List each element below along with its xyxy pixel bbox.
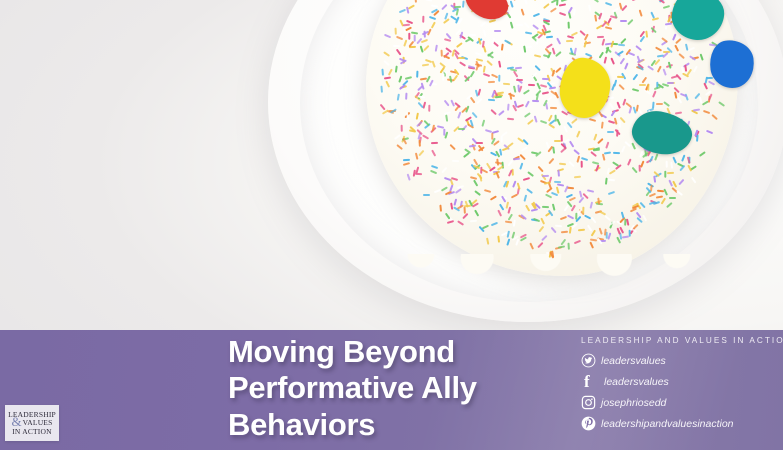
sprinkle xyxy=(484,189,491,193)
sprinkle xyxy=(590,201,594,208)
sprinkle xyxy=(533,13,540,18)
sprinkle xyxy=(428,105,431,112)
sprinkle xyxy=(618,84,625,91)
sprinkle xyxy=(441,186,448,192)
sprinkle xyxy=(503,83,510,86)
sprinkle xyxy=(652,17,659,21)
sprinkle xyxy=(621,146,626,153)
sprinkle xyxy=(542,205,549,208)
sprinkle xyxy=(533,0,537,1)
sprinkle xyxy=(384,34,391,39)
sprinkle xyxy=(403,162,410,166)
social-block: LEADERSHIP AND VALUES IN ACTION leadersv… xyxy=(581,336,783,436)
sprinkle xyxy=(496,159,499,166)
sprinkle xyxy=(675,111,682,114)
sprinkle xyxy=(455,9,459,16)
sprinkle xyxy=(397,94,401,101)
sprinkle xyxy=(506,238,510,245)
sprinkle xyxy=(381,109,388,115)
sprinkle xyxy=(666,202,673,208)
sprinkle xyxy=(516,24,523,27)
sprinkle xyxy=(671,75,678,79)
sprinkle xyxy=(469,97,475,104)
sprinkle xyxy=(458,128,465,130)
sprinkle xyxy=(457,220,464,226)
sprinkle xyxy=(423,101,427,108)
sprinkle xyxy=(500,136,503,143)
sprinkle xyxy=(519,163,524,170)
sprinkle xyxy=(676,191,683,197)
sprinkle xyxy=(510,21,514,28)
sprinkle xyxy=(605,27,612,31)
sprinkle xyxy=(444,212,450,219)
sprinkle xyxy=(513,71,519,78)
sprinkle xyxy=(516,182,520,189)
sprinkle xyxy=(443,54,450,59)
sprinkle xyxy=(599,227,604,234)
sprinkle xyxy=(453,198,457,205)
sprinkle xyxy=(645,31,648,38)
sprinkle xyxy=(555,225,562,228)
sprinkle xyxy=(504,39,511,45)
sprinkle xyxy=(619,58,625,65)
sprinkle xyxy=(599,51,605,58)
sprinkle xyxy=(396,35,403,40)
sprinkle xyxy=(635,45,642,51)
sprinkle xyxy=(462,0,465,7)
sprinkle xyxy=(620,20,627,22)
sprinkle xyxy=(551,227,557,234)
sprinkle xyxy=(458,56,465,58)
sprinkle xyxy=(560,135,563,142)
sprinkle xyxy=(657,190,664,193)
sprinkle xyxy=(394,134,401,140)
sprinkle xyxy=(699,152,706,158)
sprinkle xyxy=(663,101,670,107)
sprinkle xyxy=(583,41,587,48)
sprinkle xyxy=(667,82,674,85)
sprinkle xyxy=(396,144,403,150)
sprinkle xyxy=(395,65,398,72)
sprinkle xyxy=(584,214,591,219)
sprinkle xyxy=(441,4,448,11)
sprinkle xyxy=(587,5,591,12)
sprinkle xyxy=(568,161,575,168)
sprinkle xyxy=(688,47,695,52)
sprinkle xyxy=(574,240,581,245)
sprinkle xyxy=(571,31,578,36)
sprinkle xyxy=(653,201,660,205)
sprinkle xyxy=(480,21,487,27)
sprinkle xyxy=(576,131,581,138)
sprinkle xyxy=(665,160,668,167)
sprinkle xyxy=(415,112,419,119)
sprinkle xyxy=(647,84,650,91)
sprinkle xyxy=(552,204,556,211)
sprinkle xyxy=(631,143,636,150)
sprinkle xyxy=(661,198,667,205)
sprinkle xyxy=(544,48,550,55)
sprinkle xyxy=(525,205,531,212)
sprinkle xyxy=(603,151,610,154)
sprinkle xyxy=(589,242,594,249)
sprinkle xyxy=(593,133,598,140)
sprinkle xyxy=(533,115,537,122)
sprinkle xyxy=(525,45,532,48)
sprinkle xyxy=(449,75,453,82)
sprinkle xyxy=(605,2,612,7)
sprinkle xyxy=(399,75,404,82)
sprinkle xyxy=(698,96,702,103)
sprinkle xyxy=(552,147,555,154)
sprinkle xyxy=(483,30,487,37)
sprinkle xyxy=(501,132,508,138)
sprinkle xyxy=(523,90,530,96)
sprinkle xyxy=(494,30,501,32)
sprinkle xyxy=(506,181,510,188)
twitter-handle: leadersvalues xyxy=(601,355,666,367)
sprinkle xyxy=(517,137,524,143)
sprinkle xyxy=(605,142,610,149)
sprinkle xyxy=(679,179,686,186)
sprinkle xyxy=(545,194,552,199)
sprinkle xyxy=(431,150,436,157)
sprinkle xyxy=(385,80,390,87)
sprinkle xyxy=(449,144,456,151)
sprinkle xyxy=(401,124,404,131)
sprinkle xyxy=(559,12,566,17)
headline: Moving Beyond Performative Ally Behavior… xyxy=(228,334,558,443)
sprinkle xyxy=(582,207,585,214)
sprinkle xyxy=(380,85,383,92)
sprinkle xyxy=(567,243,570,250)
sprinkle xyxy=(456,42,463,48)
sprinkle xyxy=(512,219,515,226)
sprinkle xyxy=(555,51,562,57)
sprinkle xyxy=(510,193,517,198)
logo-line-2: VALUES xyxy=(23,419,53,427)
sprinkle xyxy=(667,172,674,175)
sprinkle xyxy=(513,157,520,160)
sprinkle xyxy=(498,75,501,82)
sprinkle xyxy=(482,72,489,77)
sprinkle xyxy=(464,204,471,207)
sprinkle xyxy=(506,230,510,237)
sprinkle xyxy=(597,197,600,204)
sprinkle xyxy=(543,3,550,9)
sprinkle xyxy=(581,160,584,167)
sprinkle xyxy=(707,81,714,86)
sprinkle xyxy=(463,152,470,158)
sprinkle xyxy=(616,101,621,108)
instagram-handle: josephriosedd xyxy=(601,397,666,409)
sprinkle xyxy=(567,215,574,220)
sprinkle xyxy=(593,149,600,152)
sprinkle xyxy=(505,220,512,223)
sprinkle xyxy=(540,120,547,125)
sprinkle xyxy=(513,0,517,1)
sprinkle xyxy=(445,132,449,139)
sprinkle xyxy=(558,163,565,166)
sprinkle xyxy=(452,160,459,163)
sprinkle xyxy=(608,191,615,196)
sprinkle xyxy=(590,151,597,157)
sprinkle xyxy=(560,0,567,2)
instagram-icon xyxy=(581,395,601,410)
headline-line-2: Performative Ally xyxy=(228,370,558,406)
sprinkle xyxy=(403,159,410,162)
social-row-twitter[interactable]: leadersvalues xyxy=(581,352,783,369)
sprinkle xyxy=(554,115,557,122)
pinterest-handle: leadershipandvaluesinaction xyxy=(601,418,734,430)
sprinkle xyxy=(383,51,390,57)
sprinkle xyxy=(488,98,495,101)
brand-logo: LEADERSHIP & VALUES IN ACTION xyxy=(5,405,59,441)
sprinkle xyxy=(455,188,462,194)
sprinkle xyxy=(555,67,562,73)
sprinkle xyxy=(669,197,676,199)
sprinkle xyxy=(665,22,672,25)
social-row-pinterest[interactable]: leadershipandvaluesinaction xyxy=(581,415,783,432)
sprinkle xyxy=(640,161,645,168)
sprinkle xyxy=(425,0,432,2)
sprinkle xyxy=(677,97,683,104)
sprinkle xyxy=(482,120,486,127)
sprinkle xyxy=(431,60,436,67)
facebook-handle: leadersvalues xyxy=(604,376,669,388)
sprinkle xyxy=(556,119,561,126)
sprinkle xyxy=(489,20,496,24)
logo-line-3: IN ACTION xyxy=(12,428,52,436)
sprinkle xyxy=(425,59,432,64)
sprinkle xyxy=(541,92,548,96)
social-row-instagram[interactable]: josephriosedd xyxy=(581,394,783,411)
sprinkle xyxy=(439,204,442,211)
sprinkle xyxy=(556,186,560,193)
sprinkle xyxy=(497,236,500,243)
sprinkle xyxy=(383,60,390,66)
sprinkle xyxy=(462,213,469,220)
sprinkle xyxy=(550,7,557,13)
sprinkle xyxy=(681,154,686,161)
sprinkle xyxy=(524,195,528,202)
sprinkle xyxy=(532,100,539,103)
sprinkle xyxy=(577,229,584,232)
sprinkle xyxy=(523,177,530,181)
sprinkle xyxy=(517,104,524,109)
sprinkle xyxy=(401,26,406,33)
sprinkle xyxy=(512,85,516,92)
sprinkle xyxy=(627,18,634,25)
sprinkle xyxy=(572,8,576,15)
sprinkle xyxy=(607,179,614,182)
sprinkle xyxy=(613,152,620,155)
sprinkle xyxy=(507,143,514,149)
sprinkle xyxy=(472,203,479,209)
sprinkle xyxy=(474,210,480,217)
sprinkle xyxy=(564,185,569,192)
sprinkle xyxy=(381,69,384,76)
sprinkle xyxy=(601,122,604,129)
sprinkle xyxy=(621,5,628,12)
sprinkle xyxy=(654,154,659,161)
sprinkle xyxy=(488,80,495,83)
sprinkle xyxy=(687,165,692,172)
sprinkle xyxy=(523,113,530,119)
sprinkle xyxy=(416,71,419,78)
sprinkle xyxy=(470,220,477,223)
sprinkle xyxy=(423,15,426,22)
sprinkle xyxy=(607,131,614,133)
sprinkle xyxy=(459,61,466,67)
sprinkle xyxy=(559,3,566,7)
sprinkle xyxy=(622,235,629,238)
sprinkle xyxy=(526,188,533,194)
sprinkle xyxy=(655,47,662,52)
sprinkle xyxy=(512,181,517,188)
sprinkle xyxy=(718,101,725,107)
sprinkle xyxy=(469,33,476,36)
sprinkle xyxy=(408,4,415,10)
sprinkle xyxy=(507,104,510,111)
sprinkle xyxy=(566,40,573,43)
sprinkle xyxy=(560,147,567,153)
sprinkle xyxy=(604,215,611,221)
sprinkle xyxy=(527,119,534,125)
sprinkle xyxy=(477,88,481,95)
sprinkle xyxy=(703,110,710,115)
social-row-facebook[interactable]: f leadersvalues xyxy=(581,373,783,390)
sprinkle xyxy=(603,56,607,63)
sprinkle xyxy=(423,193,430,195)
promo-banner: LEADERSHIP & VALUES IN ACTION Moving Bey… xyxy=(0,0,783,450)
sprinkle xyxy=(687,68,693,75)
sprinkle xyxy=(524,101,529,108)
sprinkle xyxy=(399,9,406,14)
sprinkle xyxy=(691,177,697,184)
sprinkle xyxy=(598,211,605,216)
sprinkle xyxy=(610,57,615,64)
sprinkle xyxy=(486,60,493,66)
sprinkle xyxy=(445,115,448,122)
sprinkle xyxy=(496,210,501,217)
sprinkle xyxy=(475,52,482,56)
sprinkle xyxy=(563,125,568,132)
sprinkle xyxy=(538,242,545,249)
sprinkle xyxy=(405,93,408,100)
sprinkle xyxy=(441,167,447,174)
sprinkle xyxy=(556,38,561,45)
sprinkle xyxy=(446,220,453,224)
sprinkle xyxy=(627,159,632,166)
sprinkle xyxy=(567,21,570,28)
sprinkle xyxy=(711,114,718,120)
sprinkle xyxy=(529,242,534,249)
sprinkle xyxy=(474,190,481,196)
sprinkle xyxy=(534,54,541,58)
sprinkle xyxy=(559,216,566,221)
sprinkle xyxy=(473,180,479,187)
sprinkle xyxy=(476,173,482,180)
sprinkle xyxy=(619,121,622,128)
sprinkle xyxy=(592,0,599,3)
sprinkle xyxy=(507,117,514,120)
sprinkle xyxy=(569,140,575,147)
sprinkle xyxy=(482,66,486,73)
sprinkle xyxy=(639,84,646,86)
sprinkle xyxy=(490,109,497,116)
sprinkle xyxy=(421,134,428,140)
sprinkle xyxy=(495,96,502,99)
sprinkle xyxy=(625,102,632,108)
sprinkle xyxy=(424,45,431,52)
sprinkle xyxy=(652,91,657,98)
sprinkle xyxy=(670,161,673,168)
sprinkle xyxy=(617,76,624,79)
twitter-icon xyxy=(581,353,601,368)
sprinkle xyxy=(521,146,528,152)
sprinkle xyxy=(443,100,449,107)
sprinkle xyxy=(471,112,477,119)
sprinkle xyxy=(684,43,688,50)
facebook-icon: f xyxy=(581,373,604,390)
sprinkle xyxy=(673,45,678,52)
sprinkle xyxy=(638,10,642,17)
sprinkle xyxy=(509,0,513,7)
sprinkle xyxy=(383,77,390,80)
sprinkle xyxy=(428,16,435,21)
sprinkle xyxy=(534,65,541,72)
sprinkle xyxy=(541,235,548,242)
headline-line-1: Moving Beyond xyxy=(228,334,558,370)
sprinkle xyxy=(434,44,438,51)
sprinkle xyxy=(568,227,571,234)
sprinkle xyxy=(663,5,670,9)
sprinkle xyxy=(589,118,596,122)
sprinkle xyxy=(548,124,555,130)
pinterest-icon xyxy=(581,416,601,431)
sprinkle xyxy=(525,32,532,36)
sprinkle xyxy=(573,176,580,179)
sprinkle xyxy=(554,180,561,183)
sprinkle xyxy=(618,43,625,46)
sprinkle xyxy=(678,53,685,59)
sprinkle xyxy=(498,60,502,67)
sprinkle xyxy=(550,107,557,110)
sprinkle xyxy=(573,149,580,155)
sprinkle xyxy=(587,224,593,231)
sprinkle xyxy=(523,0,528,5)
sprinkle xyxy=(703,82,708,89)
sprinkle xyxy=(406,173,411,180)
sprinkle xyxy=(498,110,505,116)
sprinkle xyxy=(418,140,421,147)
sprinkle xyxy=(538,166,545,173)
sprinkle xyxy=(545,36,552,39)
sprinkle xyxy=(523,21,529,28)
sprinkle xyxy=(422,64,429,67)
sprinkle xyxy=(692,66,697,73)
sprinkle xyxy=(540,217,545,224)
sprinkle xyxy=(624,63,629,70)
headline-line-3: Behaviors xyxy=(228,407,558,443)
sprinkle xyxy=(430,170,437,175)
sprinkle xyxy=(700,53,705,60)
sprinkle xyxy=(490,195,497,201)
sprinkle xyxy=(395,49,401,56)
brand-tagline: LEADERSHIP AND VALUES IN ACTION xyxy=(581,336,783,345)
sprinkle xyxy=(532,24,539,30)
